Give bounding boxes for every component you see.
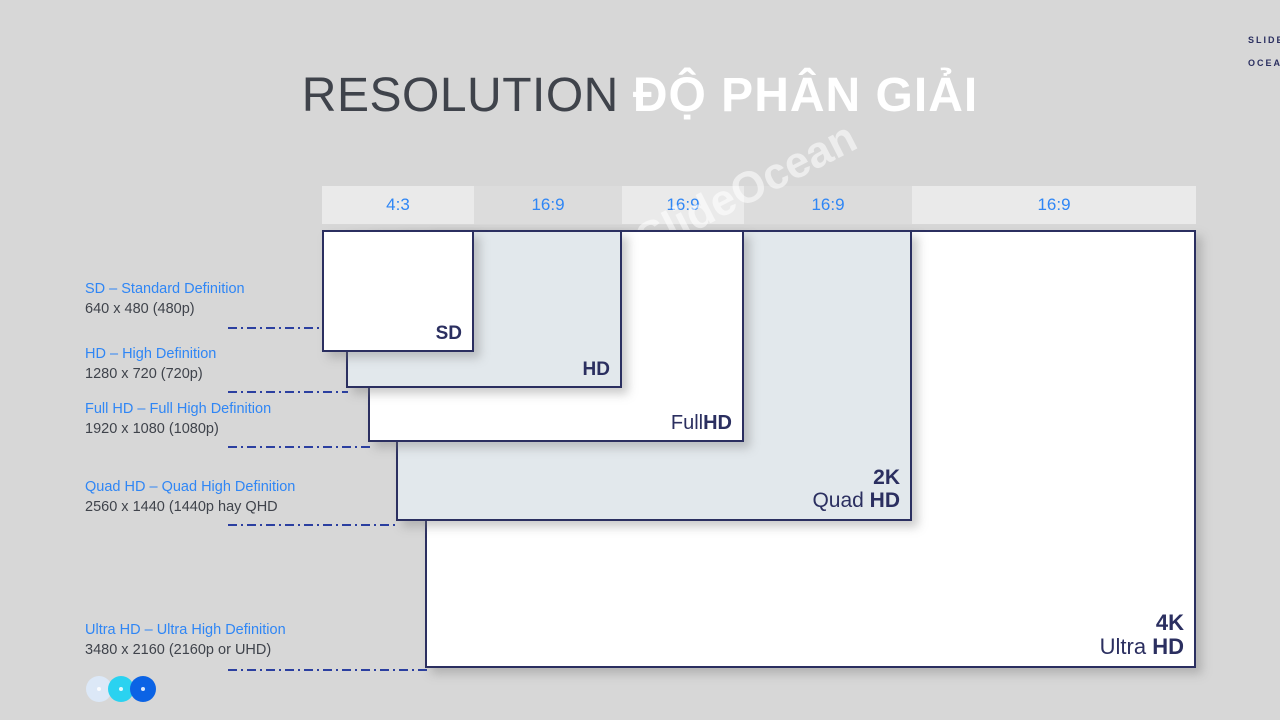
legend-title-hd: HD – High Definition	[85, 344, 216, 364]
dot-blue-center	[141, 687, 145, 691]
title-main: RESOLUTION	[302, 69, 619, 122]
legend-item-fullhd: Full HD – Full High Definition1920 x 108…	[85, 399, 271, 440]
label-prefix-2k: Quad	[812, 489, 869, 512]
resolution-box-label-fullhd: FullHD	[671, 412, 732, 434]
resolution-box-label-2k: 2KQuad HD	[812, 466, 900, 513]
legend-item-hd: HD – High Definition1280 x 720 (720p)	[85, 344, 216, 385]
legend-title-quadhd: Quad HD – Quad High Definition	[85, 477, 295, 497]
resolution-box-sd: SD	[322, 230, 474, 352]
aspect-ratio-cell-5: 16:9	[912, 186, 1196, 224]
leader-line-fullhd	[228, 446, 370, 448]
label-suffix-sd: SD	[436, 323, 462, 344]
brand-gap	[1248, 47, 1270, 57]
label-suffix-4k: HD	[1152, 634, 1184, 659]
aspect-ratio-cell-2: 16:9	[474, 186, 622, 224]
legend-title-sd: SD – Standard Definition	[85, 279, 245, 299]
legend-value-quadhd: 2560 x 1440 (1440p hay QHD	[85, 497, 295, 518]
leader-line-hd	[228, 391, 348, 393]
label-suffix-hd: HD	[583, 359, 610, 380]
legend-value-ultrahd: 3480 x 2160 (2160p or UHD)	[85, 640, 286, 661]
legend-item-sd: SD – Standard Definition640 x 480 (480p)	[85, 279, 245, 320]
resolution-box-label-4k: 4KUltra HD	[1100, 611, 1184, 660]
label-suffix-2k: HD	[870, 489, 900, 512]
resolution-box-label-hd: HD	[583, 359, 610, 380]
page-title: RESOLUTIONĐỘ PHÂN GIẢI	[0, 68, 1280, 123]
legend-title-ultrahd: Ultra HD – Ultra High Definition	[85, 620, 286, 640]
legend-title-fullhd: Full HD – Full High Definition	[85, 399, 271, 419]
brand-slide-ocean: SLIDE OCEAN	[1248, 34, 1270, 70]
label-shortname-2k: 2K	[873, 466, 900, 489]
legend-item-quadhd: Quad HD – Quad High Definition2560 x 144…	[85, 477, 295, 518]
brand-line-2: OCEAN	[1248, 57, 1270, 70]
dot-pale-blue-center	[97, 687, 101, 691]
label-prefix-4k: Ultra	[1100, 634, 1153, 659]
decorative-dots	[86, 676, 164, 702]
leader-line-sd	[228, 327, 324, 329]
label-prefix-fullhd: Full	[671, 412, 703, 434]
brand-line-1: SLIDE	[1248, 34, 1270, 47]
legend-item-ultrahd: Ultra HD – Ultra High Definition3480 x 2…	[85, 620, 286, 661]
aspect-ratio-cell-3: 16:9	[622, 186, 744, 224]
aspect-ratio-cell-4: 16:9	[744, 186, 912, 224]
leader-line-ultrahd	[228, 669, 427, 671]
legend-value-fullhd: 1920 x 1080 (1080p)	[85, 419, 271, 440]
label-suffix-fullhd: HD	[703, 412, 732, 434]
label-shortname-4k: 4K	[1156, 610, 1184, 635]
title-accent: ĐỘ PHÂN GIẢI	[633, 69, 978, 122]
leader-line-quadhd	[228, 524, 398, 526]
legend-value-hd: 1280 x 720 (720p)	[85, 364, 216, 385]
aspect-ratio-cell-1: 4:3	[322, 186, 474, 224]
dot-cyan-center	[119, 687, 123, 691]
dot-blue	[130, 676, 156, 702]
resolution-box-label-sd: SD	[436, 323, 462, 344]
legend-value-sd: 640 x 480 (480p)	[85, 299, 245, 320]
